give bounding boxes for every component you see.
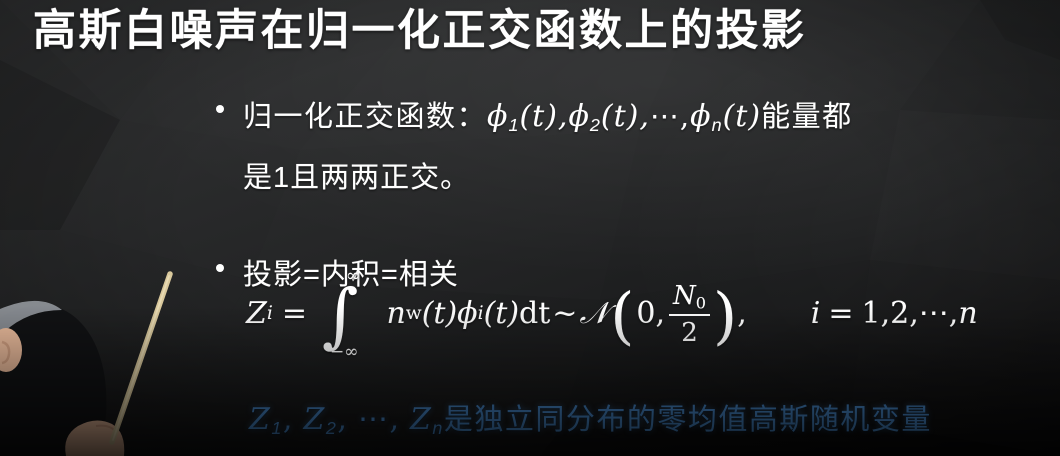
noise-function-argument: (t) (422, 296, 457, 331)
formula-lhs-subscript: i (267, 303, 273, 324)
phi-2-argument: (t), (601, 99, 650, 134)
bullet-1-prefix: 归一化正交函数： (243, 101, 487, 133)
formula-comma: , (737, 296, 747, 331)
pointer-stick-highlight (113, 276, 169, 440)
distribution-mean: 0, (636, 296, 665, 331)
bullet-dot-icon (216, 105, 224, 113)
variance-fraction: N0 2 (669, 281, 710, 348)
index-variable: i (811, 296, 821, 331)
n0-subscript: 0 (696, 294, 706, 313)
bullet-1-line-1: 归一化正交函数：ϕ1(t),ϕ2(t),⋯,ϕn(t)能量都 (243, 90, 1052, 152)
formula-equals: = (282, 296, 307, 331)
bullet-1-suffix: 能量都 (761, 101, 853, 133)
zn-subscript: n (432, 418, 444, 438)
bullet-1-line-2: 是1且两两正交。 (243, 152, 1052, 205)
conclusion-text: 是独立同分布的零均值高斯随机变量 (444, 404, 932, 436)
presenter-illustration (0, 266, 230, 456)
z2-symbol: Z (303, 402, 325, 437)
variance-numerator: N0 (669, 281, 710, 314)
projection-formula: Zi = ∫ ∞ −∞ nw(t)ϕi(t)dt~𝒩 ( 0, N0 2 ) ,… (246, 280, 978, 347)
paren-open: ( (610, 300, 634, 331)
paren-close: ) (713, 300, 737, 331)
noise-function-subscript: w (406, 303, 422, 324)
n0-symbol: N (673, 281, 696, 311)
conclusion-ellipsis: ⋯, (358, 402, 401, 437)
basis-function-symbol: ϕ (457, 296, 477, 331)
variance-denominator: 2 (677, 316, 702, 348)
index-values: 1,2,⋯, (862, 296, 959, 331)
conclusion-comma-2: , (337, 402, 348, 437)
basis-function-argument: (t) (484, 296, 519, 331)
slide-canvas: 高斯白噪声在归一化正交函数上的投影 归一化正交函数：ϕ1(t),ϕ2(t),⋯,… (0, 0, 1060, 456)
integral-lower-limit: −∞ (330, 342, 358, 362)
noise-function-symbol: n (386, 296, 405, 331)
zn-symbol: Z (410, 402, 432, 437)
bullet-item-1: 归一化正交函数：ϕ1(t),ϕ2(t),⋯,ϕn(t)能量都 是1且两两正交。 (212, 90, 1052, 205)
index-equals: = (828, 296, 853, 331)
integral-upper-limit: ∞ (346, 266, 360, 286)
z1-subscript: 1 (271, 418, 283, 438)
phi-1-argument: (t), (519, 99, 568, 134)
z2-subscript: 2 (326, 418, 338, 438)
distributed-as-tilde: ~ (552, 296, 577, 331)
phi-ellipsis: ⋯, (650, 99, 690, 133)
differential-dt: dt (519, 296, 550, 331)
index-upper-n: n (958, 296, 977, 331)
phi-1-symbol: ϕ (487, 99, 508, 134)
normal-distribution-symbol: 𝒩 (579, 296, 608, 331)
integral-operator: ∫ ∞ −∞ (322, 288, 358, 338)
page-title: 高斯白噪声在归一化正交函数上的投影 (33, 2, 807, 60)
integral-sign-icon: ∫ (322, 290, 358, 340)
phi-n-argument: (t) (723, 99, 761, 134)
phi-2-symbol: ϕ (568, 99, 589, 134)
z1-symbol: Z (249, 402, 271, 437)
conclusion-statement: Z1, Z2, ⋯, Zn是独立同分布的零均值高斯随机变量 (249, 398, 932, 450)
content-body: 归一化正交函数：ϕ1(t),ϕ2(t),⋯,ϕn(t)能量都 是1且两两正交。 … (212, 90, 1052, 302)
phi-2-subscript: 2 (590, 115, 601, 135)
conclusion-comma-1: , (283, 402, 294, 437)
phi-n-symbol: ϕ (690, 99, 711, 134)
phi-n-subscript: n (712, 115, 723, 135)
phi-1-subscript: 1 (508, 115, 519, 135)
formula-lhs-var: Z (246, 296, 267, 331)
